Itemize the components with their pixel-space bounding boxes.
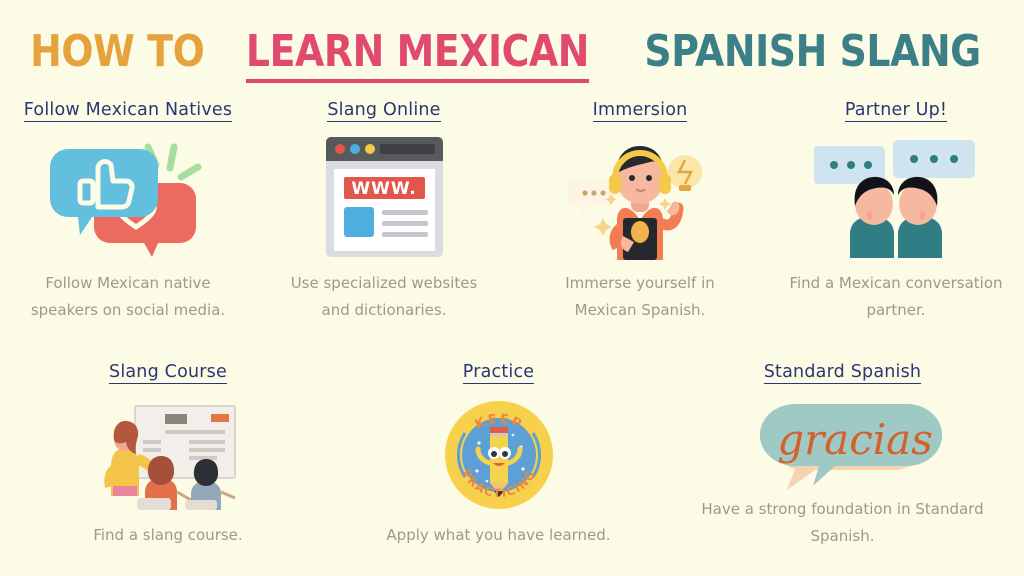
teacher-classroom-whiteboard-icon xyxy=(93,396,243,514)
tip-card-partner-up: Partner Up! xyxy=(768,100,1024,323)
person-headphones-tablet-idea-icon xyxy=(565,132,715,262)
page-title: HOW TO LEARN MEXICAN SPANISH SLANG xyxy=(0,26,1024,83)
tip-heading: Slang Online xyxy=(327,100,440,122)
tip-heading: Partner Up! xyxy=(845,100,947,122)
title-part-spanish-slang: SPANISH SLANG xyxy=(645,26,981,77)
tip-description: Find a slang course. xyxy=(93,522,242,549)
keep-practicing-pencil-badge-icon: KEEP PRACTICING xyxy=(443,396,555,514)
tip-heading: Follow Mexican Natives xyxy=(24,100,232,122)
tips-row-1: Follow Mexican Natives xyxy=(0,100,1024,323)
tip-card-follow-mexican-natives: Follow Mexican Natives xyxy=(0,100,256,323)
tip-description: Have a strong foundation in Standard Spa… xyxy=(698,496,988,549)
two-people-talking-icon xyxy=(814,132,979,262)
tip-heading: Standard Spanish xyxy=(764,362,921,384)
title-part-learn-mexican: LEARN MEXICAN xyxy=(246,26,589,83)
tip-heading: Practice xyxy=(463,362,535,384)
tip-heading: Immersion xyxy=(593,100,688,122)
gracias-label: gracias xyxy=(777,415,933,464)
speech-bubbles-thumbsup-heart-icon xyxy=(48,132,208,262)
browser-www-label: WWW. xyxy=(351,179,416,199)
tip-card-standard-spanish: Standard Spanish gracias Have a strong f… xyxy=(661,362,1024,549)
browser-window-www-icon: WWW. xyxy=(322,132,447,262)
gracias-speech-bubble-icon: gracias xyxy=(743,396,943,496)
tip-card-slang-course: Slang Course xyxy=(0,362,336,549)
tip-description: Apply what you have learned. xyxy=(386,522,610,549)
tip-description: Follow Mexican native speakers on social… xyxy=(21,270,236,323)
tip-card-practice: Practice xyxy=(336,362,661,549)
tip-card-slang-online: Slang Online WWW. Use specialized websit… xyxy=(256,100,512,323)
tips-row-2: Slang Course xyxy=(0,362,1024,549)
tip-description: Immerse yourself in Mexican Spanish. xyxy=(533,270,748,323)
tip-heading: Slang Course xyxy=(109,362,227,384)
tip-description: Find a Mexican conversation partner. xyxy=(789,270,1004,323)
title-part-how-to: HOW TO xyxy=(30,26,204,77)
tip-description: Use specialized websites and dictionarie… xyxy=(277,270,492,323)
tip-card-immersion: Immersion xyxy=(512,100,768,323)
